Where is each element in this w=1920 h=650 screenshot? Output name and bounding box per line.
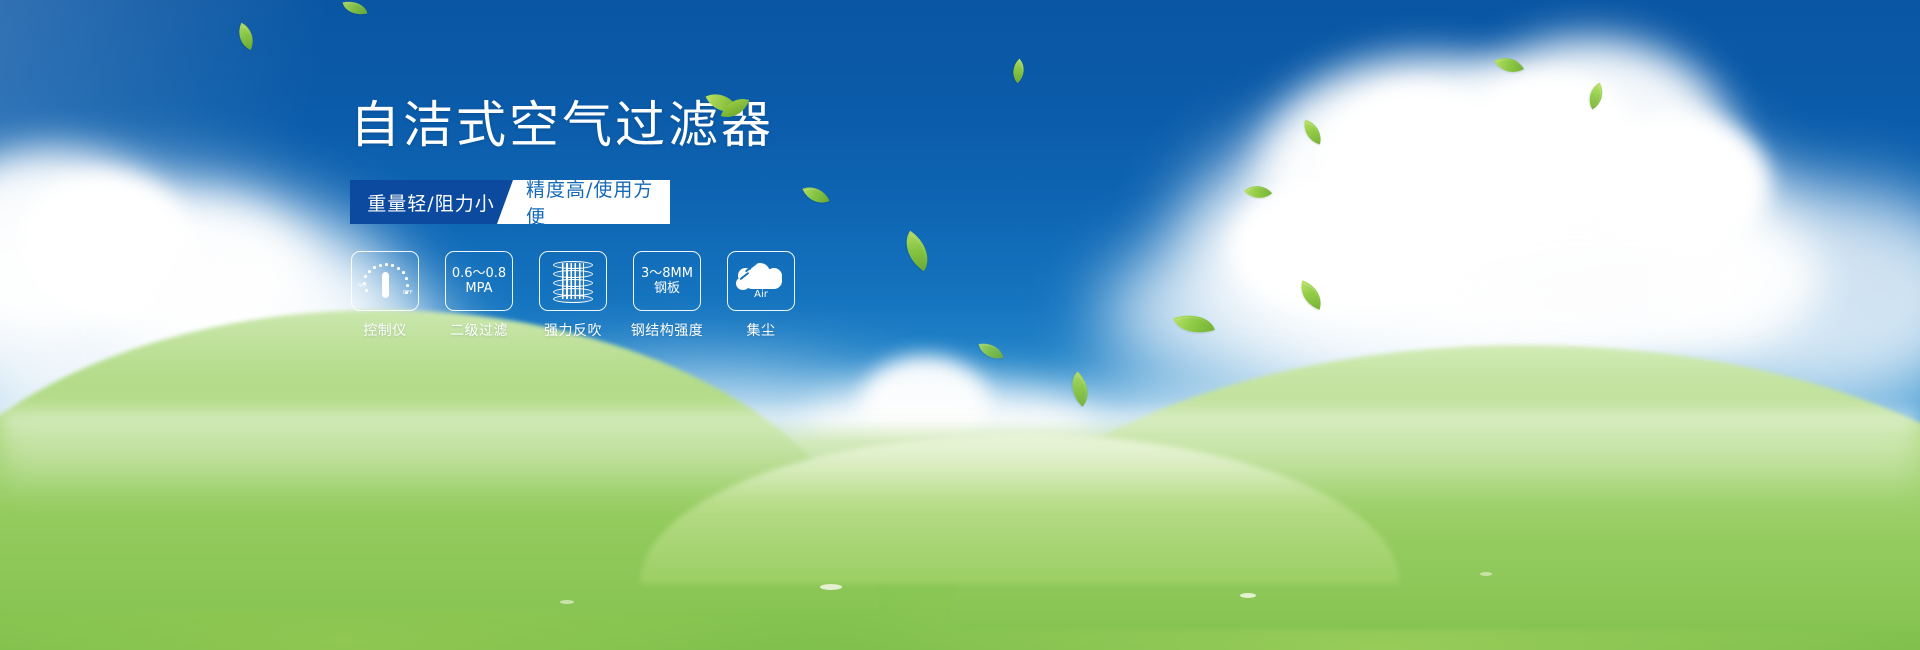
badge-weight-resistance: 重量轻/阻力小 <box>350 180 516 224</box>
feature-item-steel[interactable]: 3～8MM 钢板 钢结构强度 <box>632 251 702 340</box>
gauge-label-off: OFF <box>403 290 413 296</box>
tagline-badges: 重量轻/阻力小 精度高/使用方便 <box>350 180 670 224</box>
feature-label: 控制仪 <box>363 320 407 340</box>
feature-box: Air <box>727 251 795 311</box>
air-caption: Air <box>736 289 786 300</box>
feature-item-dust[interactable]: Air 集尘 <box>726 251 796 340</box>
badge-left-label: 重量轻/阻力小 <box>367 189 494 216</box>
feature-box: 3～8MM 钢板 <box>633 251 701 311</box>
title-leaf-decoration <box>690 88 750 132</box>
feature-box: NO OFF <box>351 251 419 311</box>
feature-icon-row: NO OFF 控制仪 0.6～0.8 MPA 二级过滤 <box>350 251 870 340</box>
feature-label: 二级过滤 <box>450 320 508 340</box>
gauge-needle <box>382 272 389 298</box>
feature-label: 集尘 <box>747 320 776 340</box>
steel-plate-text-icon: 3～8MM 钢板 <box>641 266 693 297</box>
pressure-text-icon: 0.6～0.8 MPA <box>452 266 506 297</box>
air-cloud-icon: Air <box>736 261 786 301</box>
feature-box: 0.6～0.8 MPA <box>445 251 513 311</box>
grass-haze <box>0 380 1920 500</box>
hero-banner: 自洁式空气过滤器 重量轻/阻力小 精度高/使用方便 <box>0 0 1920 650</box>
gauge-label-no: NO <box>358 283 366 289</box>
feature-text-line1: 0.6～0.8 <box>452 266 506 281</box>
feature-item-backblow[interactable]: 强力反吹 <box>538 251 608 340</box>
feature-label: 强力反吹 <box>544 320 602 340</box>
feature-item-pressure[interactable]: 0.6～0.8 MPA 二级过滤 <box>444 251 514 340</box>
feature-label: 钢结构强度 <box>631 320 704 340</box>
feature-text-line1: 3～8MM <box>641 266 693 281</box>
badge-right-label: 精度高/使用方便 <box>526 175 670 229</box>
filter-coil-icon <box>553 259 593 303</box>
feature-text-line2: MPA <box>452 281 506 296</box>
badge-precision-convenience: 精度高/使用方便 <box>516 180 670 224</box>
banner-content: 自洁式空气过滤器 重量轻/阻力小 精度高/使用方便 <box>350 100 870 340</box>
feature-text-line2: 钢板 <box>641 281 693 296</box>
gauge-dial-icon: NO OFF <box>359 259 411 303</box>
page-title: 自洁式空气过滤器 <box>350 100 870 150</box>
feature-item-controller[interactable]: NO OFF 控制仪 <box>350 251 420 340</box>
feature-box <box>539 251 607 311</box>
